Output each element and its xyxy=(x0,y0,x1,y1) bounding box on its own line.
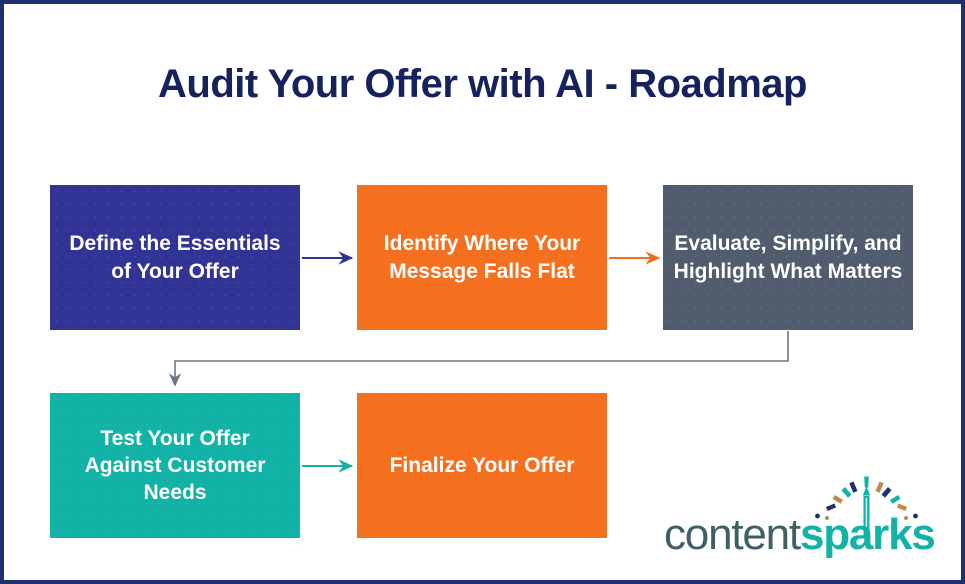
logo-word-content: content xyxy=(664,510,800,559)
flow-step-5-finalize-offer[interactable]: Finalize Your Offer xyxy=(357,393,607,538)
flow-step-2-identify-gaps[interactable]: Identify Where Your Message Falls Flat xyxy=(357,185,607,330)
flow-step-4-test-against-needs[interactable]: Test Your Offer Against Customer Needs xyxy=(50,393,300,538)
logo-word-sparks: sparks xyxy=(800,510,935,559)
logo-wordmark: contentsparks xyxy=(664,510,935,560)
flow-step-1-define-essentials[interactable]: Define the Essentials of Your Offer xyxy=(50,185,300,330)
flow-step-3-evaluate-simplify[interactable]: Evaluate, Simplify, and Highlight What M… xyxy=(663,185,913,330)
contentsparks-logo: contentsparks xyxy=(664,474,926,562)
flow-step-1-label: Define the Essentials of Your Offer xyxy=(60,230,290,285)
flow-step-2-label: Identify Where Your Message Falls Flat xyxy=(367,230,597,285)
arrow-step3-to-step4 xyxy=(175,331,788,385)
flow-step-5-label: Finalize Your Offer xyxy=(390,452,575,479)
flow-step-3-label: Evaluate, Simplify, and Highlight What M… xyxy=(673,230,903,285)
slide-canvas: Audit Your Offer with AI - Roadmap xyxy=(0,0,965,584)
page-title: Audit Your Offer with AI - Roadmap xyxy=(0,62,965,107)
flow-step-4-label: Test Your Offer Against Customer Needs xyxy=(60,425,290,507)
